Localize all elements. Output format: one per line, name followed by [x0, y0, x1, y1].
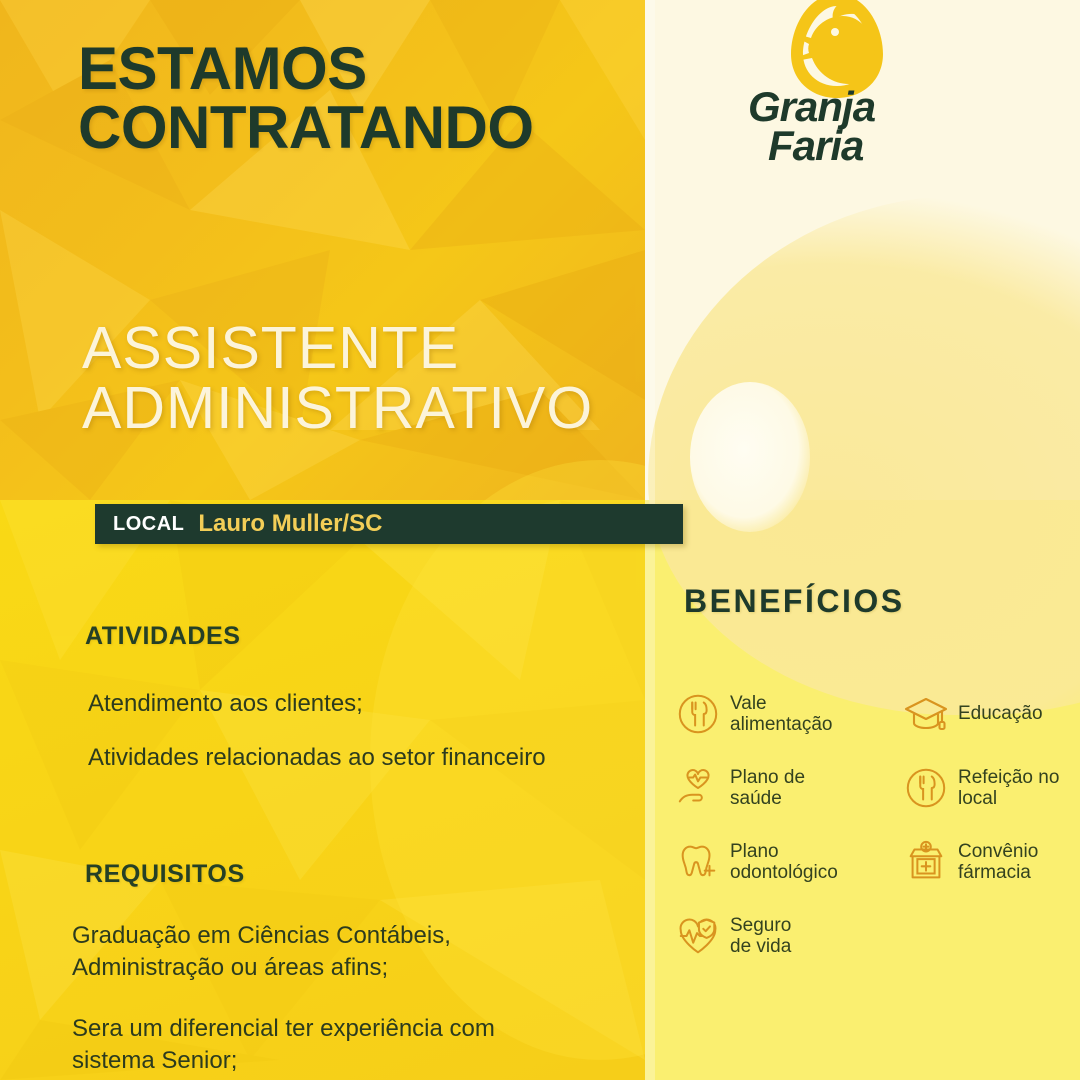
- requirement-item-line-2: Administração ou áreas afins;: [72, 954, 388, 981]
- heart-shield-check-icon: [672, 910, 724, 962]
- benefit-label: Convênio fármacia: [958, 841, 1038, 884]
- benefit-label-line-1: Vale: [730, 693, 832, 714]
- benefit-item-educacao: Educação: [900, 688, 1080, 740]
- benefit-label: Seguro de vida: [730, 915, 791, 958]
- benefit-label-line-2: odontológico: [730, 862, 838, 883]
- benefits-row: Plano de saúde Refeição no local: [672, 762, 1080, 814]
- requirement-item-line-2: sistema Senior;: [72, 1047, 237, 1074]
- plate-fork-knife-icon: [672, 688, 724, 740]
- location-bar: LOCAL Lauro Muller/SC: [95, 504, 683, 544]
- logo-wordmark: Granja Faria: [742, 88, 938, 165]
- tooth-plus-icon: [672, 836, 724, 888]
- benefit-label-line-1: Refeição no: [958, 767, 1059, 788]
- benefits-row: Seguro de vida: [672, 910, 1080, 962]
- benefit-label-line-1: Educação: [958, 703, 1043, 724]
- headline-line-2: CONTRATANDO: [78, 99, 678, 158]
- location-label: LOCAL: [113, 513, 184, 536]
- benefits-row: Plano odontológico Convênio: [672, 836, 1080, 888]
- activity-item: Atendimento aos clientes;: [88, 688, 648, 720]
- benefit-label: Plano odontológico: [730, 841, 838, 884]
- benefit-label-line-1: Plano de: [730, 767, 805, 788]
- benefit-label-line-1: Seguro: [730, 915, 791, 936]
- benefit-label-line-1: Convênio: [958, 841, 1038, 862]
- activities-heading: ATIVIDADES: [85, 622, 241, 651]
- graduation-cap-icon: [900, 688, 952, 740]
- benefit-label-line-1: Plano: [730, 841, 838, 862]
- company-logo: Granja Faria: [742, 0, 932, 185]
- job-title-line-1: ASSISTENTE: [82, 318, 682, 378]
- benefit-label: Refeição no local: [958, 767, 1059, 810]
- requirement-item: Graduação em Ciências Contábeis, Adminis…: [72, 920, 632, 983]
- benefits-row: Vale alimentação Educação: [672, 688, 1080, 740]
- requirement-item: Sera um diferencial ter experiência com …: [72, 1013, 632, 1076]
- logo-name-line-2: Faria: [748, 127, 938, 166]
- job-title: ASSISTENTE ADMINISTRATIVO: [82, 318, 682, 438]
- benefit-item-convenio-farmacia: Convênio fármacia: [900, 836, 1080, 888]
- benefits-grid: Vale alimentação Educação: [672, 688, 1080, 984]
- benefits-heading: BENEFÍCIOS: [684, 583, 905, 620]
- location-value: Lauro Muller/SC: [198, 510, 382, 538]
- benefit-item-refeicao-no-local: Refeição no local: [900, 762, 1080, 814]
- benefit-label: Educação: [958, 703, 1043, 724]
- requirement-item-line-1: Graduação em Ciências Contábeis,: [72, 922, 451, 949]
- benefit-item-seguro-de-vida: Seguro de vida: [672, 910, 900, 962]
- benefit-item-vale-alimentacao: Vale alimentação: [672, 688, 900, 740]
- pharmacy-building-icon: [900, 836, 952, 888]
- benefit-item-plano-de-saude: Plano de saúde: [672, 762, 900, 814]
- benefit-label: Plano de saúde: [730, 767, 805, 810]
- headline-line-1: ESTAMOS: [78, 40, 678, 99]
- activity-item: Atividades relacionadas ao setor finance…: [88, 742, 648, 774]
- benefit-label-line-2: fármacia: [958, 862, 1038, 883]
- job-title-line-2: ADMINISTRATIVO: [82, 378, 682, 438]
- job-posting-poster: ESTAMOS CONTRATANDO Granja Faria ASSISTE…: [0, 0, 1080, 1080]
- egg-highlight-shape: [690, 382, 810, 532]
- requirement-item-line-1: Sera um diferencial ter experiência com: [72, 1015, 495, 1042]
- benefit-label-line-2: de vida: [730, 936, 791, 957]
- requirements-list: Graduação em Ciências Contábeis, Adminis…: [72, 920, 632, 1080]
- benefit-label: Vale alimentação: [730, 693, 832, 736]
- activities-list: Atendimento aos clientes; Atividades rel…: [88, 688, 648, 795]
- requirements-heading: REQUISITOS: [85, 860, 245, 889]
- plate-fork-spoon-icon: [900, 762, 952, 814]
- page-title: ESTAMOS CONTRATANDO: [78, 40, 678, 158]
- benefit-label-line-2: local: [958, 788, 1059, 809]
- benefit-item-plano-odontologico: Plano odontológico: [672, 836, 900, 888]
- benefit-label-line-2: saúde: [730, 788, 805, 809]
- heart-pulse-hand-icon: [672, 762, 724, 814]
- benefit-label-line-2: alimentação: [730, 714, 832, 735]
